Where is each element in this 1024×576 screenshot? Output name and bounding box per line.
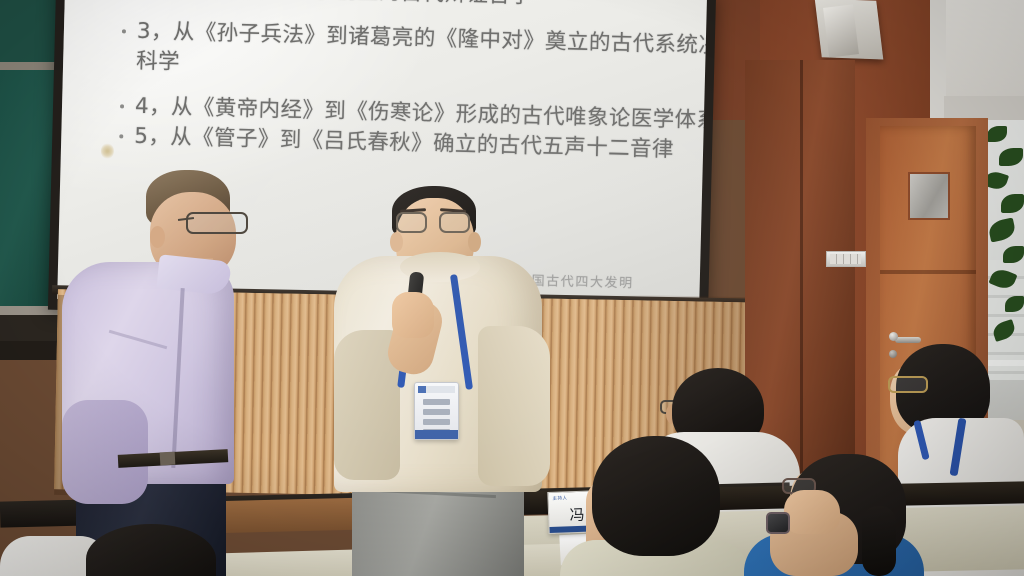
badge-footer-band bbox=[415, 430, 458, 439]
smartwatch bbox=[766, 512, 790, 534]
door-vision-panel bbox=[908, 172, 950, 220]
conference-badge bbox=[414, 382, 459, 440]
badge-line bbox=[423, 419, 450, 425]
speaker-glasses-lens-right bbox=[439, 212, 470, 233]
audience-blue-shirt-hand bbox=[784, 490, 840, 534]
audience-blue-shirt-ponytail bbox=[862, 506, 896, 576]
door-lock[interactable] bbox=[889, 350, 897, 358]
senior-man-ear bbox=[150, 226, 165, 248]
foliage-leaf bbox=[987, 218, 1017, 243]
green-chalkboard-upper bbox=[0, 0, 57, 64]
door-knob[interactable] bbox=[889, 332, 898, 341]
foliage-leaf bbox=[987, 126, 1007, 142]
chalkboard-ledge-upper bbox=[0, 62, 58, 70]
foliage-leaf bbox=[1001, 194, 1024, 213]
speaker-ear-left bbox=[390, 232, 403, 252]
badge-line bbox=[423, 409, 450, 415]
foliage-leaf bbox=[999, 148, 1023, 166]
audience-front-center-head bbox=[592, 436, 720, 556]
light-switch-buttons[interactable] bbox=[830, 254, 861, 264]
speaker-glasses bbox=[396, 212, 470, 234]
speaker-glasses-lens-left bbox=[396, 212, 427, 233]
slide-line-2-partial: ，从《周易》到老子创立的古代辩证哲学 bbox=[121, 0, 694, 16]
badge-header-band bbox=[418, 386, 455, 393]
dark-wood-column-seam bbox=[800, 60, 803, 480]
senior-man-arm bbox=[62, 400, 148, 504]
speaker-hand bbox=[392, 292, 434, 338]
speaker-ear-right bbox=[468, 232, 481, 252]
wall-mounted-speaker-face bbox=[823, 4, 859, 57]
badge-line bbox=[423, 399, 450, 405]
senior-man-glasses bbox=[186, 212, 248, 234]
door-rail bbox=[880, 270, 976, 274]
outdoor-railing bbox=[985, 360, 1024, 366]
slide-text-block: ，从《周易》到老子创立的古代辩证哲学 3，从《孙子兵法》到诸葛亮的《隆中对》奠立… bbox=[117, 0, 693, 166]
door-handle[interactable] bbox=[895, 337, 921, 343]
senior-man-belt-buckle bbox=[160, 452, 176, 466]
photo-scene: ，从《周易》到老子创立的古代辩证哲学 3，从《孙子兵法》到诸葛亮的《隆中对》奠立… bbox=[0, 0, 1024, 576]
chalkboard-base bbox=[0, 315, 60, 341]
speaker-sleeve-right bbox=[478, 326, 550, 486]
foliage-leaf bbox=[985, 169, 1009, 192]
audience-far-right-glasses bbox=[888, 376, 928, 393]
